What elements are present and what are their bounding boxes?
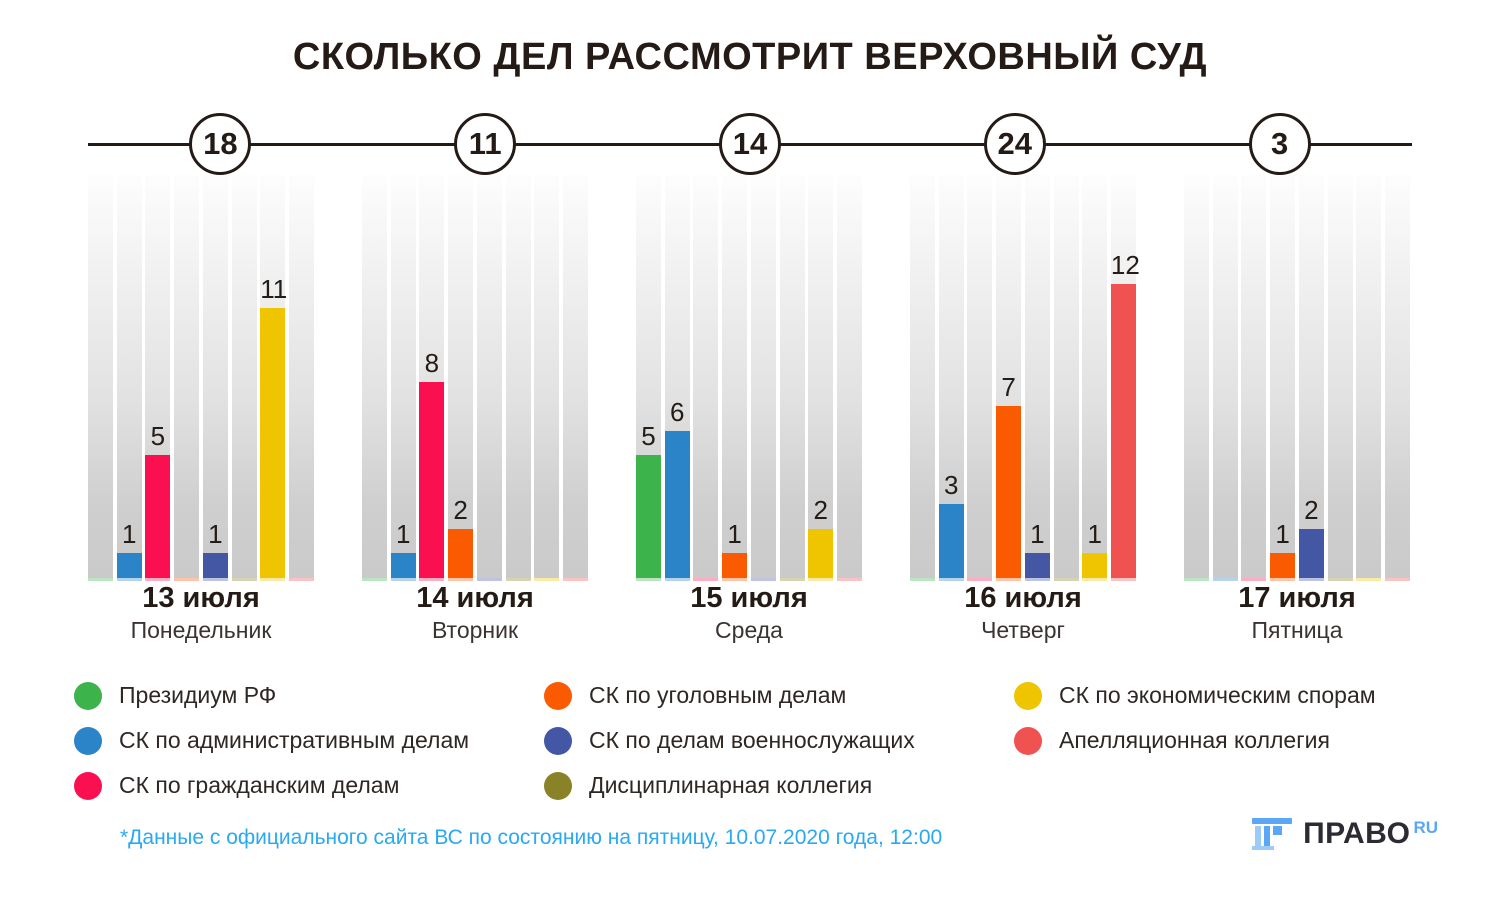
bar-value-label: 5 [636,423,661,449]
slot-underline [996,578,1021,581]
axis-cell: 14 [618,110,883,178]
legend: Президиум РФСК по административным делам… [74,673,1474,808]
bar-slot [1184,175,1209,578]
slot-underline [232,578,257,581]
axis-circle-list: 181114243 [88,110,1412,178]
bar-value-label: 2 [448,497,473,523]
slot-underline [506,578,531,581]
legend-item[interactable]: Апелляционная коллегия [1014,718,1454,763]
bar-slot [837,175,862,578]
slot-underline [939,578,964,581]
bar-slot: 2 [448,175,473,578]
bar-slot [751,175,776,578]
bar [260,308,285,578]
legend-item[interactable]: Президиум РФ [74,673,544,718]
slot-underline [145,578,170,581]
date-weekday: Пятница [1184,615,1410,646]
legend-label: СК по административным делам [119,727,469,754]
bar-value-label: 12 [1111,252,1136,278]
bar-slot [693,175,718,578]
day-panel: 12 [1184,175,1410,578]
slot-underline [1184,578,1209,581]
total-badge: 14 [719,113,781,175]
legend-label: СК по уголовным делам [589,682,846,709]
date-label-group: 16 июляЧетверг [910,583,1136,653]
slot-underline [693,578,718,581]
bar [1025,553,1050,578]
bar-slot: 7 [996,175,1021,578]
bar [722,553,747,578]
bar-value-label: 3 [939,472,964,498]
bar-slot: 1 [391,175,416,578]
date-label-group: 17 июляПятница [1184,583,1410,653]
total-badge: 3 [1249,113,1311,175]
logo-wordmark: ПРАВО [1303,819,1410,849]
bar-slot [534,175,559,578]
slot-underline [1356,578,1381,581]
bar-slot [967,175,992,578]
bar [145,455,170,578]
date-label-group: 13 июляПонедельник [88,583,314,653]
bar-slot [1213,175,1238,578]
slot-underline [419,578,444,581]
slot-underline [362,578,387,581]
slot-underline [665,578,690,581]
date-weekday: Четверг [910,615,1136,646]
bar [391,553,416,578]
bar-value-label: 6 [665,399,690,425]
bar-slot [88,175,113,578]
legend-item[interactable]: СК по гражданским делам [74,763,544,808]
bar-value-label: 5 [145,423,170,449]
slot-underline [563,578,588,581]
total-badge: 24 [984,113,1046,175]
bar [1082,553,1107,578]
bar-slot: 6 [665,175,690,578]
bar [203,553,228,578]
bar-slot [1328,175,1353,578]
slot-underline [1299,578,1324,581]
slot-underline [837,578,862,581]
date-weekday: Вторник [362,615,588,646]
slot-underline [1328,578,1353,581]
slot-underline [780,578,805,581]
date-day-month: 14 июля [362,583,588,615]
date-label-group: 14 июляВторник [362,583,588,653]
axis-cell: 11 [353,110,618,178]
slot-underline [1270,578,1295,581]
legend-color-dot [544,772,572,800]
bar-slot: 2 [808,175,833,578]
bar [1299,529,1324,578]
totals-axis: 181114243 [88,110,1412,178]
bar-slot [362,175,387,578]
footnote: *Данные с официального сайта ВС по состо… [120,826,942,850]
date-weekday: Понедельник [88,615,314,646]
bar-slot: 12 [1111,175,1136,578]
bar-slot: 8 [419,175,444,578]
date-labels: 13 июляПонедельник14 июляВторник15 июляС… [88,583,1412,653]
day-panel: 15111 [88,175,314,578]
legend-color-dot [74,682,102,710]
bar-slot [910,175,935,578]
bar-value-label: 1 [1270,521,1295,547]
legend-label: СК по экономическим спорам [1059,682,1376,709]
slot-underline [967,578,992,581]
axis-cell: 18 [88,110,353,178]
bar-slot: 5 [145,175,170,578]
bar-slot [232,175,257,578]
bar-value-label: 1 [391,521,416,547]
bar-value-label: 1 [1082,521,1107,547]
legend-item[interactable]: СК по делам военнослужащих [544,718,1014,763]
bar-slot: 1 [1025,175,1050,578]
bar-slot: 11 [260,175,285,578]
bar-slot: 2 [1299,175,1324,578]
slot-underline [722,578,747,581]
bar [636,455,661,578]
bar-slot: 1 [117,175,142,578]
slot-underline [448,578,473,581]
slot-underline [636,578,661,581]
legend-color-dot [1014,727,1042,755]
legend-color-dot [544,682,572,710]
axis-cell: 24 [882,110,1147,178]
bar-value-label: 1 [1025,521,1050,547]
legend-label: Дисциплинарная коллегия [589,772,872,799]
legend-column: Президиум РФСК по административным делам… [74,673,544,808]
slot-underline [117,578,142,581]
legend-item[interactable]: Дисциплинарная коллегия [544,763,1014,808]
bar-value-label: 1 [722,521,747,547]
legend-color-dot [74,772,102,800]
bar [419,382,444,578]
bar-slot [1356,175,1381,578]
bar [665,431,690,578]
pillar-icon [1252,818,1292,850]
slot-underline [391,578,416,581]
bar-slot: 5 [636,175,661,578]
date-label-group: 15 июляСреда [636,583,862,653]
bar-value-label: 7 [996,374,1021,400]
legend-label: Президиум РФ [119,682,276,709]
bar-value-label: 11 [260,276,285,302]
day-panel: 182 [362,175,588,578]
legend-color-dot [74,727,102,755]
bar-slot [1054,175,1079,578]
date-weekday: Среда [636,615,862,646]
legend-column: СК по уголовным деламСК по делам военнос… [544,673,1014,808]
legend-color-dot [544,727,572,755]
legend-item[interactable]: СК по административным делам [74,718,544,763]
bar-slot [477,175,502,578]
slot-underline [1213,578,1238,581]
bar [939,504,964,578]
date-day-month: 16 июля [910,583,1136,615]
slot-underline [1111,578,1136,581]
bar-value-label: 8 [419,350,444,376]
page-title: СКОЛЬКО ДЕЛ РАССМОТРИТ ВЕРХОВНЫЙ СУД [0,36,1500,79]
bar-slot [563,175,588,578]
legend-label: СК по делам военнослужащих [589,727,915,754]
bar-value-label: 1 [117,521,142,547]
legend-color-dot [1014,682,1042,710]
bar-value-label: 2 [808,497,833,523]
slot-underline [203,578,228,581]
bar [1111,284,1136,578]
slot-underline [260,578,285,581]
slot-underline [289,578,314,581]
legend-label: Апелляционная коллегия [1059,727,1330,754]
slot-underline [174,578,199,581]
bar-slot [289,175,314,578]
day-panel: 5612 [636,175,862,578]
bar-value-label: 2 [1299,497,1324,523]
slot-underline [1241,578,1266,581]
slot-underline [1054,578,1079,581]
total-badge: 11 [454,113,516,175]
date-day-month: 17 июля [1184,583,1410,615]
bar [448,529,473,578]
axis-cell: 3 [1147,110,1412,178]
legend-item[interactable]: СК по экономическим спорам [1014,673,1454,718]
legend-item[interactable]: СК по уголовным делам [544,673,1014,718]
slot-underline [1082,578,1107,581]
bar-slot: 1 [1270,175,1295,578]
slot-underline [477,578,502,581]
slot-underline [808,578,833,581]
bar-slot: 1 [722,175,747,578]
total-badge: 18 [189,113,251,175]
slot-underline [1385,578,1410,581]
chart-panels: 15111182561237111212 [88,175,1412,578]
slot-underline [534,578,559,581]
bar-slot: 3 [939,175,964,578]
pravo-logo[interactable]: ПРАВО RU [1252,818,1438,850]
bar-slot: 1 [203,175,228,578]
slot-underline [88,578,113,581]
bar-slot [1241,175,1266,578]
bar [996,406,1021,578]
slot-underline [1025,578,1050,581]
bar-slot [1385,175,1410,578]
legend-label: СК по гражданским делам [119,772,399,799]
bar-slot [506,175,531,578]
bar-slot: 1 [1082,175,1107,578]
bar [808,529,833,578]
date-day-month: 15 июля [636,583,862,615]
bar [117,553,142,578]
slot-underline [751,578,776,581]
date-day-month: 13 июля [88,583,314,615]
slot-underline [910,578,935,581]
day-panel: 371112 [910,175,1136,578]
legend-column: СК по экономическим спорамАпелляционная … [1014,673,1454,808]
bar [1270,553,1295,578]
logo-suffix: RU [1413,819,1438,836]
bar-value-label: 1 [203,521,228,547]
bar-slot [780,175,805,578]
bar-slot [174,175,199,578]
